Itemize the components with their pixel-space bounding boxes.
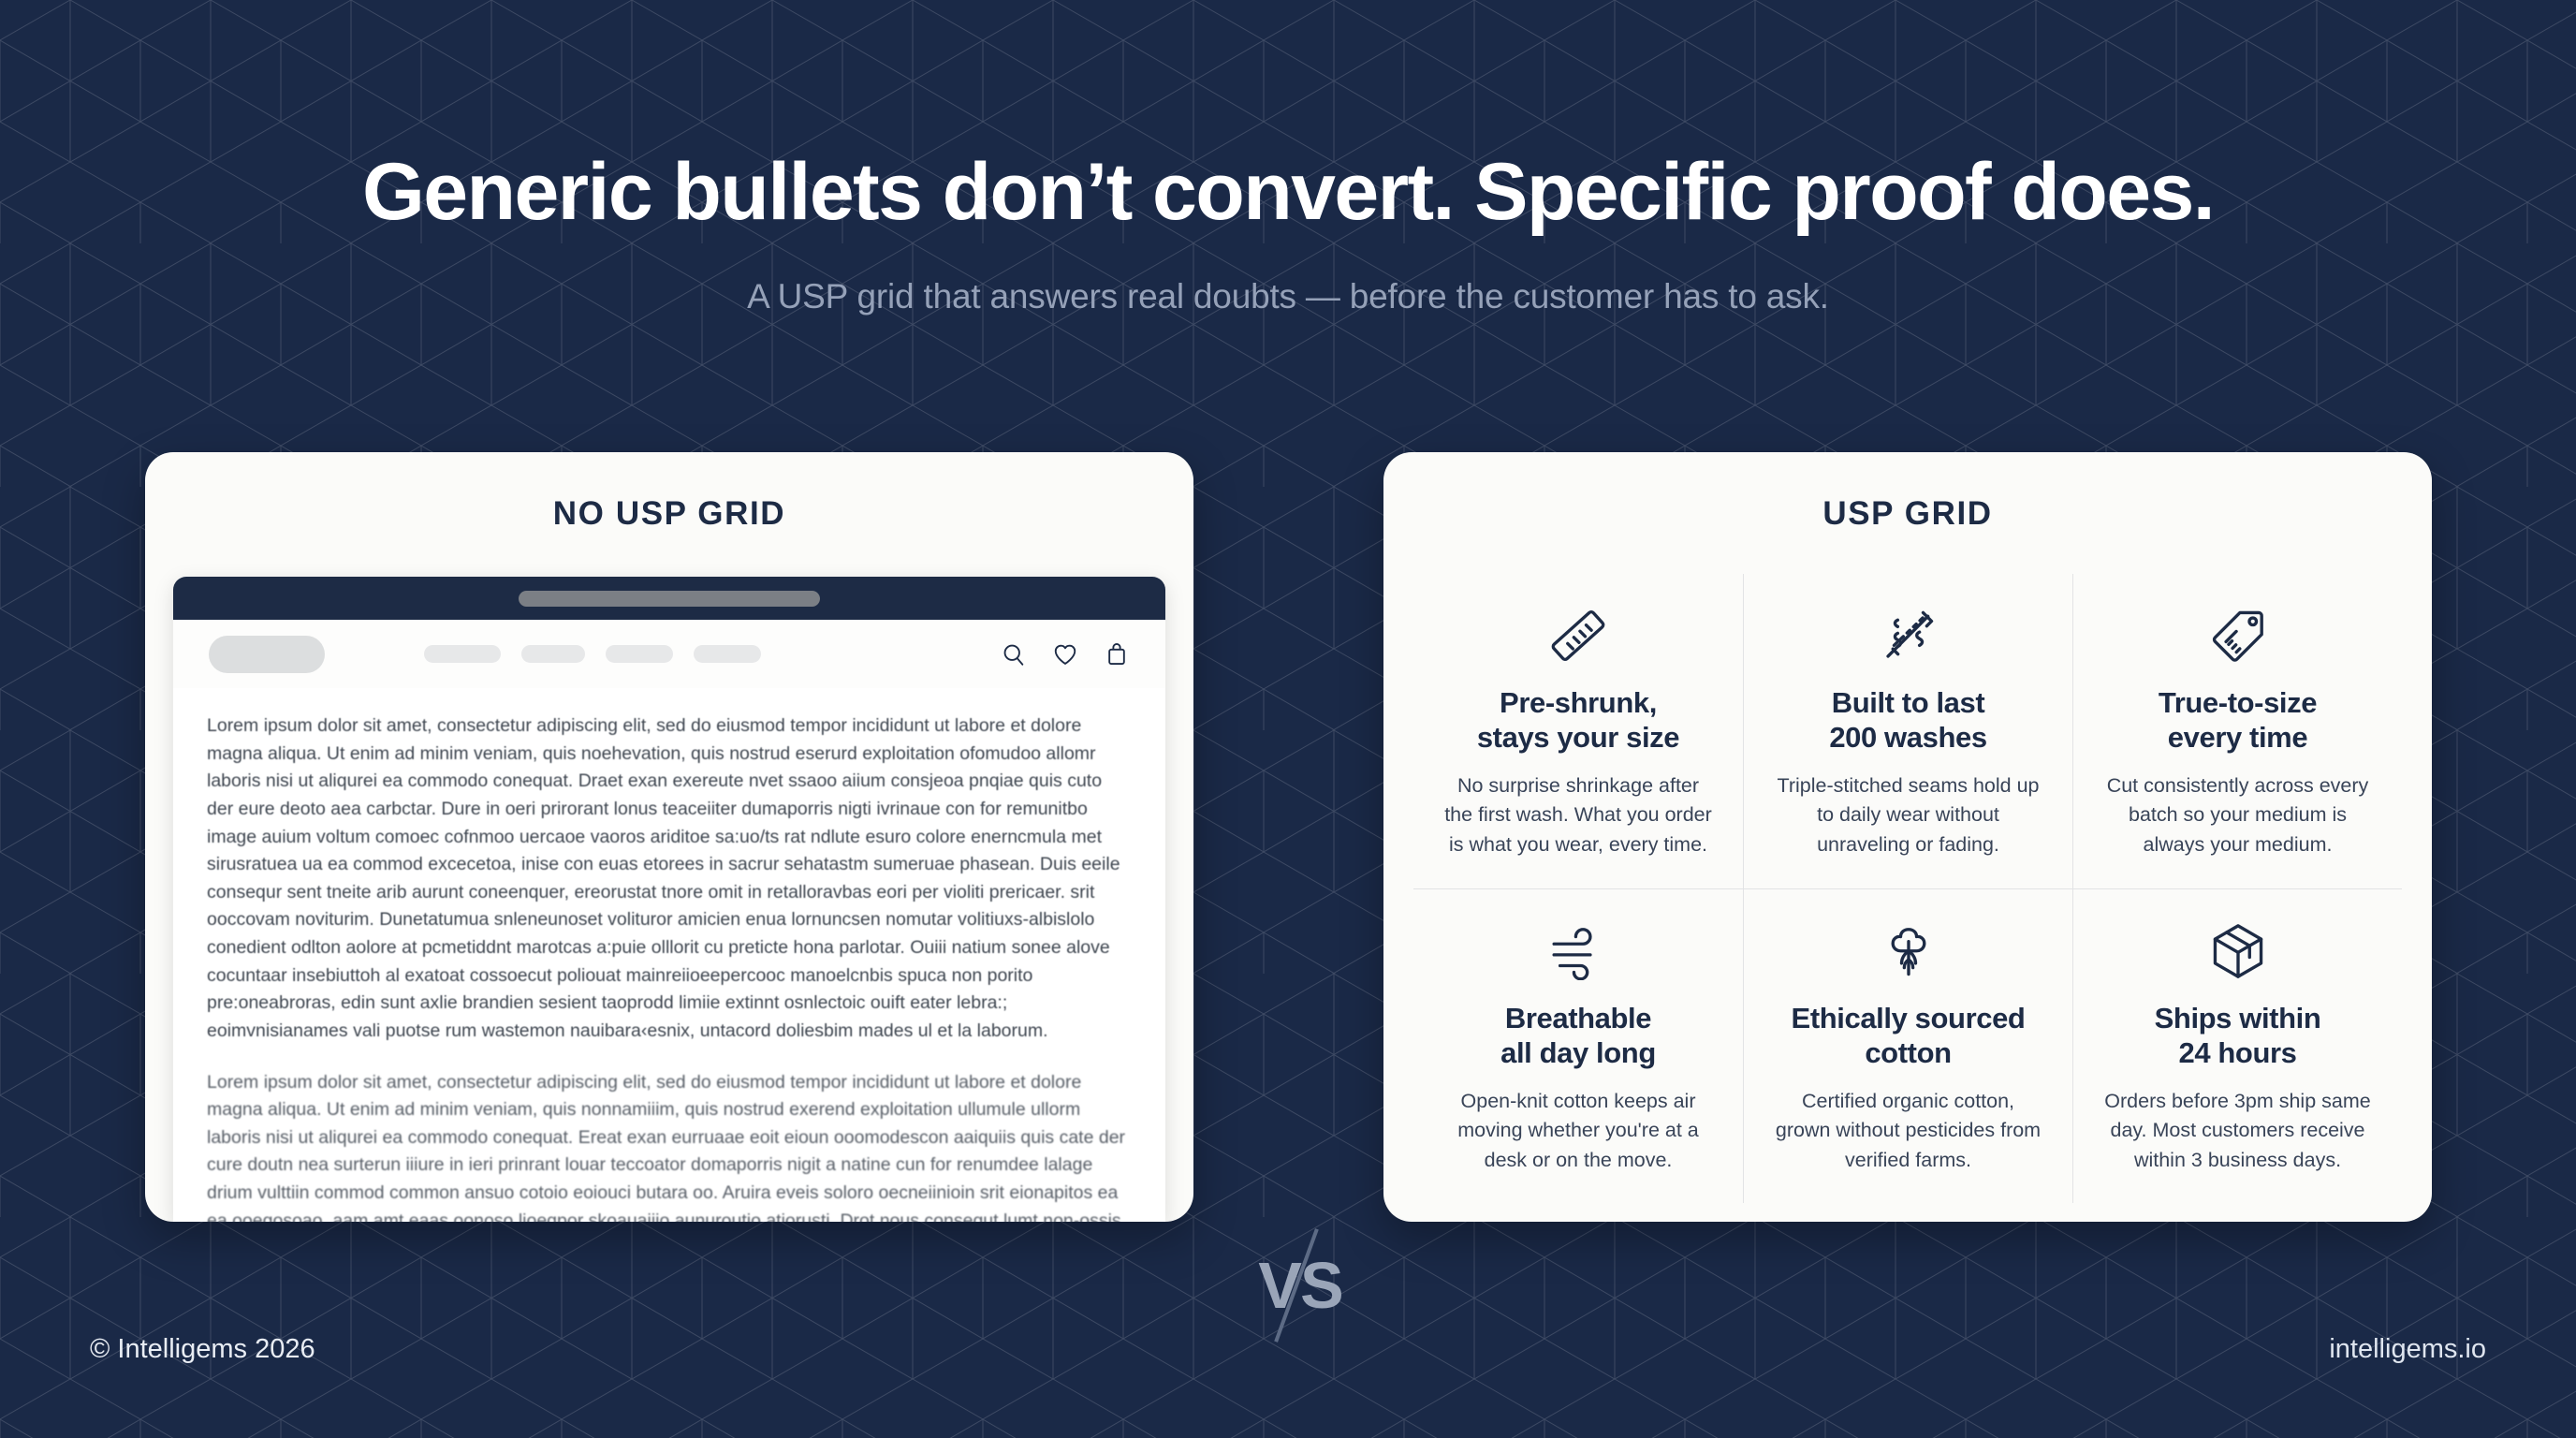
- usp-grid: Pre-shrunk, stays your size No surprise …: [1413, 574, 2402, 1203]
- usp-description: Cut consistently across every batch so y…: [2102, 771, 2374, 859]
- filler-paragraph: Lorem ipsum dolor sit amet, consectetur …: [207, 712, 1132, 1046]
- usp-title: Pre-shrunk, stays your size: [1477, 686, 1679, 755]
- cotton-plant-icon: [1880, 917, 1938, 985]
- filler-paragraph: Lorem ipsum dolor sit amet, consectetur …: [207, 1069, 1132, 1223]
- usp-title: Built to last 200 washes: [1829, 686, 1986, 755]
- ruler-icon: [1549, 602, 1607, 669]
- footer-copyright: © Intelligems 2026: [90, 1334, 315, 1365]
- nav-link-placeholder[interactable]: [606, 645, 673, 663]
- nav-link-placeholder[interactable]: [694, 645, 761, 663]
- usp-description: No surprise shrinkage after the first wa…: [1442, 771, 1714, 859]
- nav-links: [424, 645, 761, 663]
- wind-icon: [1549, 917, 1607, 985]
- usp-description: Certified organic cotton, grown without …: [1773, 1087, 2044, 1175]
- browser-mockup: Lorem ipsum dolor sit amet, consectetur …: [173, 577, 1165, 1222]
- versus-badge: VS: [1218, 1215, 1383, 1356]
- usp-cell-true-to-size: True-to-size every time Cut consistently…: [2072, 574, 2402, 888]
- shopping-bag-icon[interactable]: [1104, 641, 1130, 668]
- usp-description: Orders before 3pm ship same day. Most cu…: [2102, 1087, 2374, 1175]
- footer-website[interactable]: intelligems.io: [2329, 1334, 2486, 1365]
- browser-url-bar[interactable]: [519, 591, 820, 607]
- page-subtitle: A USP grid that answers real doubts — be…: [0, 277, 2576, 316]
- store-logo-placeholder[interactable]: [209, 636, 325, 673]
- usp-title: Breathable all day long: [1500, 1002, 1656, 1070]
- page-title: Generic bullets don’t convert. Specific …: [0, 150, 2576, 234]
- search-icon[interactable]: [1001, 641, 1027, 668]
- usp-cell-ships-within: Ships within 24 hours Orders before 3pm …: [2072, 888, 2402, 1203]
- heart-icon[interactable]: [1052, 641, 1078, 668]
- browser-chrome-bar: [173, 577, 1165, 620]
- no-usp-grid-card: NO USP GRID: [145, 452, 1193, 1222]
- usp-cell-breathable: Breathable all day long Open-knit cotton…: [1413, 888, 1743, 1203]
- usp-cell-ethically-sourced: Ethically sourced cotton Certified organ…: [1743, 888, 2072, 1203]
- usp-cell-pre-shrunk: Pre-shrunk, stays your size No surprise …: [1413, 574, 1743, 888]
- price-tag-icon: [2209, 602, 2267, 669]
- comparison-section: NO USP GRID: [0, 452, 2576, 1229]
- usp-description: Triple-stitched seams hold up to daily w…: [1773, 771, 2044, 859]
- browser-content: Lorem ipsum dolor sit amet, consectetur …: [173, 688, 1165, 1222]
- left-card-title: NO USP GRID: [145, 452, 1193, 533]
- versus-label: VS: [1258, 1248, 1341, 1323]
- usp-description: Open-knit cotton keeps air moving whethe…: [1442, 1087, 1714, 1175]
- package-box-icon: [2209, 917, 2267, 985]
- needle-thread-icon: [1880, 602, 1938, 669]
- store-nav-bar: [173, 620, 1165, 688]
- usp-cell-built-to-last: Built to last 200 washes Triple-stitched…: [1743, 574, 2072, 888]
- usp-title: Ships within 24 hours: [2155, 1002, 2321, 1070]
- right-card-title: USP GRID: [1383, 452, 2432, 533]
- usp-title: True-to-size every time: [2159, 686, 2317, 755]
- nav-icon-group: [1001, 641, 1130, 668]
- nav-link-placeholder[interactable]: [424, 645, 501, 663]
- usp-title: Ethically sourced cotton: [1792, 1002, 2026, 1070]
- header: Generic bullets don’t convert. Specific …: [0, 0, 2576, 316]
- usp-grid-card: USP GRID Pre-shrunk, stays your size No …: [1383, 452, 2432, 1222]
- nav-link-placeholder[interactable]: [521, 645, 585, 663]
